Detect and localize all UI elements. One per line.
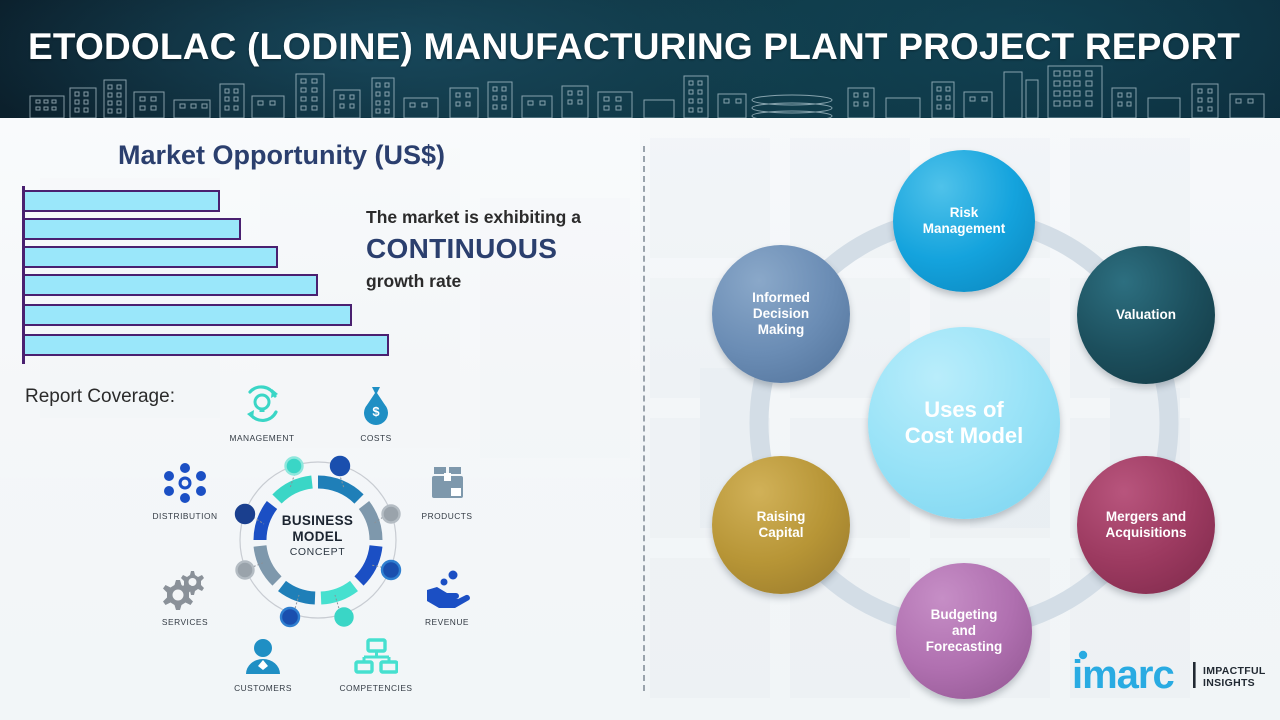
node-raising-capital[interactable]: RaisingCapital (712, 456, 850, 594)
wheel-line-1: BUSINESS (245, 513, 390, 528)
node-label-risk-management: RiskManagement (917, 205, 1012, 237)
report-coverage-label: Report Coverage: (25, 386, 175, 408)
logo-tagline-line-1: IMPACTFUL (1203, 665, 1266, 677)
bar-1 (25, 190, 220, 212)
page-title: ETODOLAC (LODINE) MANUFACTURING PLANT PR… (28, 26, 1258, 68)
coverage-label-revenue: REVENUE (402, 617, 492, 627)
coverage-item-costs: $ COSTS (331, 382, 421, 443)
node-label-uses-of-cost-model: Uses ofCost Model (899, 397, 1030, 450)
bar-6 (25, 334, 389, 356)
pitch-line-2: CONTINUOUS (366, 229, 634, 269)
coverage-label-management: MANAGEMENT (217, 433, 307, 443)
node-uses-of-cost-model[interactable]: Uses ofCost Model (868, 327, 1060, 519)
node-mergers-acquisitions[interactable]: Mergers andAcquisitions (1077, 456, 1215, 594)
node-informed-decision-making[interactable]: InformedDecisionMaking (712, 245, 850, 383)
coverage-item-management: MANAGEMENT (217, 382, 307, 443)
coverage-label-competencies: COMPETENCIES (331, 683, 421, 693)
bar-2 (25, 218, 241, 240)
management-icon (238, 382, 286, 426)
products-icon (425, 462, 469, 504)
customers-icon (241, 638, 285, 676)
imarc-logo: imarc IMPACTFUL INSIGHTS (1072, 648, 1272, 692)
bar-5 (25, 304, 352, 326)
city-skyline-graphic (0, 62, 1280, 118)
competencies-icon (354, 638, 398, 676)
svg-text:imarc: imarc (1072, 653, 1174, 692)
bar-3 (25, 246, 278, 268)
logo-tagline-line-2: INSIGHTS (1203, 677, 1255, 689)
pitch-line-1: The market is exhibiting a (366, 205, 634, 229)
node-risk-management[interactable]: RiskManagement (893, 150, 1035, 292)
slide-header: ETODOLAC (LODINE) MANUFACTURING PLANT PR… (0, 0, 1280, 118)
wheel-line-3: CONCEPT (245, 546, 390, 558)
coverage-item-services: SERVICES (140, 568, 230, 627)
coverage-label-customers: CUSTOMERS (218, 683, 308, 693)
node-label-mergers-acquisitions: Mergers andAcquisitions (1099, 509, 1192, 541)
node-label-informed-decision-making: InformedDecisionMaking (746, 290, 816, 339)
wheel-line-2: MODEL (245, 529, 390, 544)
slide-canvas: ETODOLAC (LODINE) MANUFACTURING PLANT PR… (0, 0, 1280, 720)
bar-4 (25, 274, 318, 296)
business-model-wheel-text: BUSINESS MODEL CONCEPT (245, 455, 390, 630)
services-icon (161, 568, 209, 610)
coverage-label-distribution: DISTRIBUTION (140, 511, 230, 521)
node-valuation[interactable]: Valuation (1077, 246, 1215, 384)
coverage-label-costs: COSTS (331, 433, 421, 443)
coverage-item-distribution: DISTRIBUTION (140, 462, 230, 521)
node-label-raising-capital: RaisingCapital (751, 509, 812, 541)
coverage-label-services: SERVICES (140, 617, 230, 627)
coverage-item-revenue: REVENUE (402, 568, 492, 627)
costs-icon: $ (354, 382, 398, 426)
imarc-logo-graphic: imarc IMPACTFUL INSIGHTS (1072, 648, 1272, 692)
pitch-line-3: growth rate (366, 269, 634, 293)
revenue-icon (422, 568, 472, 610)
node-label-valuation: Valuation (1110, 307, 1182, 323)
coverage-label-products: PRODUCTS (402, 511, 492, 521)
svg-text:$: $ (372, 404, 380, 419)
node-label-budgeting-forecasting: BudgetingandForecasting (920, 607, 1009, 656)
market-opportunity-bar-chart (22, 186, 422, 366)
coverage-item-customers: CUSTOMERS (218, 638, 308, 693)
uses-of-cost-model-diagram: InformedDecisionMaking RiskManagement Va… (640, 118, 1280, 720)
growth-pitch-text: The market is exhibiting a CONTINUOUS gr… (366, 205, 634, 293)
coverage-item-competencies: COMPETENCIES (331, 638, 421, 693)
coverage-item-products: PRODUCTS (402, 462, 492, 521)
node-budgeting-forecasting[interactable]: BudgetingandForecasting (896, 563, 1032, 699)
distribution-icon (161, 462, 209, 504)
market-opportunity-title: Market Opportunity (US$) (118, 140, 445, 171)
